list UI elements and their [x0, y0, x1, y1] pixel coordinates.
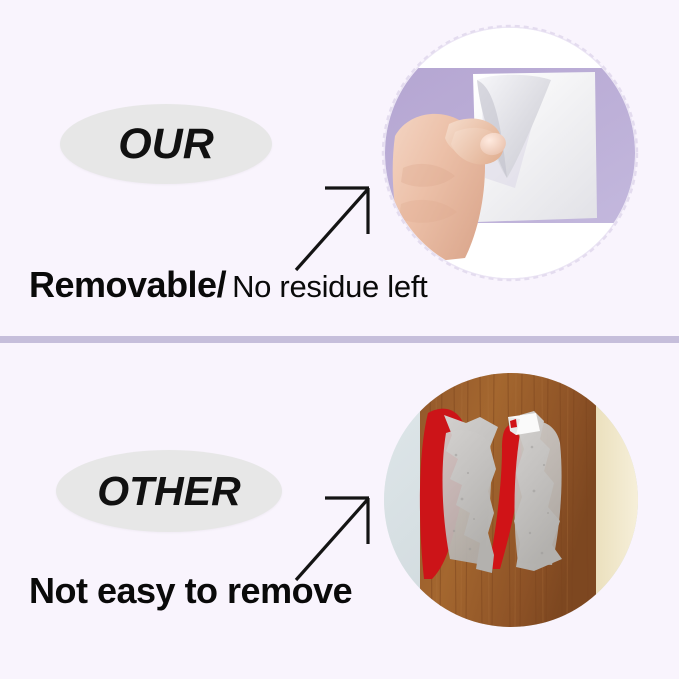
badge-our-label: OUR [118, 120, 214, 169]
arrow-up-right-icon-top [296, 186, 376, 272]
badge-other-label: OTHER [97, 468, 241, 515]
comparison-infographic: OUR Removable/ No residue left [0, 0, 679, 679]
caption-our-light: No residue left [232, 269, 427, 305]
badge-other: OTHER [56, 450, 282, 532]
photo-hand-peeling-sticker [385, 28, 635, 278]
caption-our-strong: Removable/ [29, 264, 226, 306]
panel-our: OUR Removable/ No residue left [0, 0, 679, 336]
badge-our: OUR [60, 104, 272, 184]
arrow-up-right-icon-bottom [296, 496, 376, 582]
panel-other: OTHER Not easy to remove [0, 343, 679, 679]
photo-damaged-wood-residue [384, 373, 638, 627]
section-divider [0, 336, 679, 343]
